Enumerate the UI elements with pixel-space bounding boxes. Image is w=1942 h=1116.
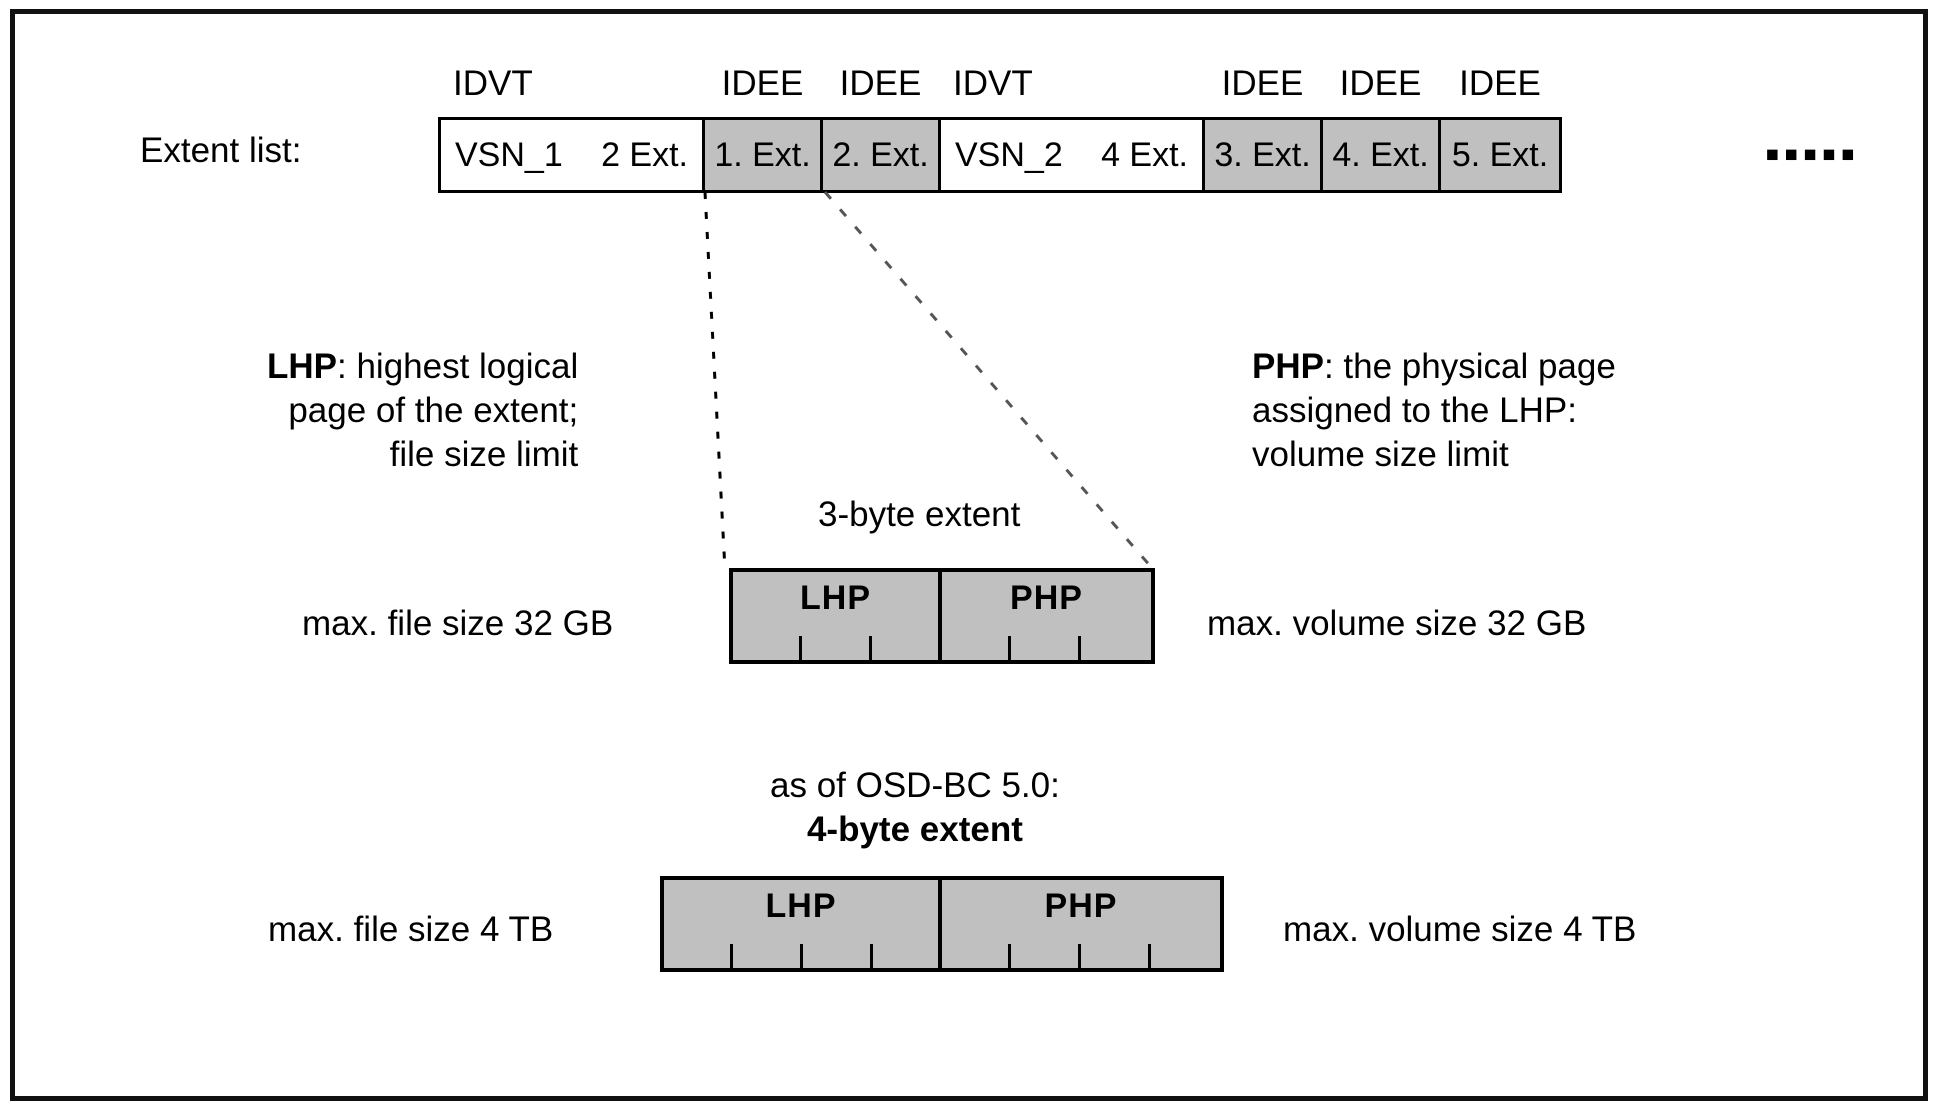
extent-list-label: Extent list: xyxy=(140,131,301,171)
extent-cell-header-idee-5: IDEE xyxy=(1441,64,1559,104)
extent-cell-text-idee-1: 1. Ext. xyxy=(714,136,810,175)
extent-cell-count-1: 2 Ext. xyxy=(601,136,688,175)
tick-mark xyxy=(1078,944,1081,968)
lhp-description-line-3: file size limit xyxy=(267,433,578,477)
four-byte-max-file-size-note: max. file size 4 TB xyxy=(268,910,553,950)
three-byte-lhp-label: LHP xyxy=(800,579,871,618)
lhp-line1-rest: : highest logical xyxy=(337,347,578,386)
three-byte-extent-title: 3-byte extent xyxy=(818,495,1020,535)
extent-cell-vsn-1: VSN_1 xyxy=(455,136,563,175)
extent-cell-idvt-1: IDVT VSN_1 2 Ext. xyxy=(441,120,705,190)
php-description: PHP: the physical page assigned to the L… xyxy=(1252,345,1616,477)
lhp-description-line-1: LHP: highest logical xyxy=(267,345,578,389)
three-byte-php-label: PHP xyxy=(1010,579,1083,618)
extent-cell-count-2: 4 Ext. xyxy=(1101,136,1188,175)
extent-cell-idee-2: IDEE 2. Ext. xyxy=(823,120,941,190)
tick-mark xyxy=(869,636,872,660)
php-term: PHP xyxy=(1252,347,1324,386)
four-byte-php-half: PHP xyxy=(942,880,1220,968)
lhp-term: LHP xyxy=(267,347,337,386)
extent-list-strip: IDVT VSN_1 2 Ext. IDEE 1. Ext. IDEE 2. E… xyxy=(438,117,1562,193)
osd-version-line: as of OSD-BC 5.0: xyxy=(770,764,1060,808)
extent-cell-header-idee-4: IDEE xyxy=(1323,64,1438,104)
php-description-line-2: assigned to the LHP: xyxy=(1252,389,1616,433)
extent-cell-header-idee-2: IDEE xyxy=(823,64,938,104)
figure-canvas: Extent list: IDVT VSN_1 2 Ext. IDEE 1. E… xyxy=(0,0,1942,1116)
extent-cell-text-idee-4: 4. Ext. xyxy=(1332,136,1428,175)
php-line1-rest: : the physical page xyxy=(1324,347,1616,386)
tick-mark xyxy=(730,944,733,968)
extent-cell-header-idvt-2: IDVT xyxy=(941,64,1214,104)
tick-mark xyxy=(1008,944,1011,968)
extent-cell-idvt-2: IDVT VSN_2 4 Ext. xyxy=(941,120,1205,190)
lhp-description: LHP: highest logical page of the extent;… xyxy=(267,345,578,477)
four-byte-php-label: PHP xyxy=(1045,887,1118,926)
extent-cell-header-idee-1: IDEE xyxy=(705,64,820,104)
lhp-description-line-2: page of the extent; xyxy=(267,389,578,433)
tick-mark xyxy=(799,636,802,660)
extent-cell-idee-3: IDEE 3. Ext. xyxy=(1205,120,1323,190)
four-byte-extent-box: LHP PHP xyxy=(660,876,1224,972)
three-byte-max-file-size-note: max. file size 32 GB xyxy=(302,604,613,644)
php-description-line-3: volume size limit xyxy=(1252,433,1616,477)
php-description-line-1: PHP: the physical page xyxy=(1252,345,1616,389)
tick-mark xyxy=(870,944,873,968)
extent-cell-text-idee-2: 2. Ext. xyxy=(832,136,928,175)
tick-mark xyxy=(800,944,803,968)
three-byte-php-half: PHP xyxy=(942,572,1151,660)
extent-cell-header-idvt-1: IDVT xyxy=(441,64,714,104)
tick-mark xyxy=(1008,636,1011,660)
extent-cell-text-idee-3: 3. Ext. xyxy=(1214,136,1310,175)
extent-cell-idee-5: IDEE 5. Ext. xyxy=(1441,120,1559,190)
tick-mark xyxy=(1078,636,1081,660)
three-byte-extent-box: LHP PHP xyxy=(729,568,1155,664)
four-byte-lhp-label: LHP xyxy=(766,887,837,926)
three-byte-lhp-half: LHP xyxy=(733,572,942,660)
extent-cell-idee-4: IDEE 4. Ext. xyxy=(1323,120,1441,190)
four-byte-max-volume-size-note: max. volume size 4 TB xyxy=(1283,910,1636,950)
four-byte-extent-title: 4-byte extent xyxy=(770,808,1060,852)
four-byte-lhp-half: LHP xyxy=(664,880,942,968)
extent-cell-header-idee-3: IDEE xyxy=(1205,64,1320,104)
extent-cell-text-idee-5: 5. Ext. xyxy=(1452,136,1548,175)
ellipsis-dots: ▪▪▪▪▪ xyxy=(1765,133,1859,175)
tick-mark xyxy=(1148,944,1151,968)
three-byte-max-volume-size-note: max. volume size 32 GB xyxy=(1207,604,1586,644)
osd-version-note: as of OSD-BC 5.0: 4-byte extent xyxy=(770,764,1060,853)
extent-cell-vsn-2: VSN_2 xyxy=(955,136,1063,175)
extent-cell-idee-1: IDEE 1. Ext. xyxy=(705,120,823,190)
